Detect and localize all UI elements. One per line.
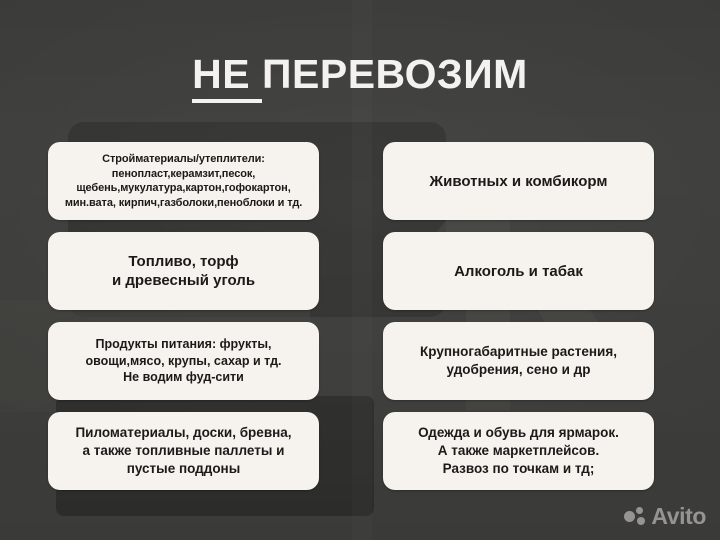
card-text: Одежда и обувь для ярмарок. А также марк… [418, 424, 619, 478]
card-text: Алкоголь и табак [454, 262, 583, 281]
card-fuel-peat-charcoal: Топливо, торф и древесный уголь [48, 232, 319, 310]
card-construction-materials: Стройматериалы/утеплители: пенопласт,кер… [48, 142, 319, 220]
avito-watermark: Avito [624, 505, 706, 528]
prohibited-items-grid: Стройматериалы/утеплители: пенопласт,кер… [48, 142, 654, 490]
card-text: Пиломатериалы, доски, бревна, а также то… [75, 424, 291, 478]
avito-dot-large [624, 511, 635, 522]
avito-dot-small-top [636, 507, 643, 514]
card-lumber-and-pallets: Пиломатериалы, доски, бревна, а также то… [48, 412, 319, 490]
card-text: Стройматериалы/утеплители: пенопласт,кер… [65, 152, 302, 210]
card-food-products: Продукты питания: фрукты, овощи,мясо, кр… [48, 322, 319, 400]
page-title-wrapper: НЕ ПЕРЕВОЗИМ [0, 52, 720, 96]
avito-dots-icon [624, 507, 646, 527]
page-title-rest: ПЕРЕВОЗИМ [262, 51, 528, 97]
poster-root: НЕ ПЕРЕВОЗИМ Стройматериалы/утеплители: … [0, 0, 720, 540]
card-text: Животных и комбикорм [430, 172, 608, 191]
avito-wordmark: Avito [651, 505, 706, 528]
card-text: Крупногабаритные растения, удобрения, се… [420, 343, 617, 379]
avito-dot-small-bottom [637, 517, 645, 525]
card-text: Топливо, торф и древесный уголь [112, 252, 255, 290]
page-title-underlined: НЕ [192, 51, 262, 103]
card-text: Продукты питания: фрукты, овощи,мясо, кр… [85, 336, 281, 386]
card-clothes-and-shoes: Одежда и обувь для ярмарок. А также марк… [383, 412, 654, 490]
card-alcohol-and-tobacco: Алкоголь и табак [383, 232, 654, 310]
card-oversized-plants: Крупногабаритные растения, удобрения, се… [383, 322, 654, 400]
card-animals-and-feed: Животных и комбикорм [383, 142, 654, 220]
page-title: НЕ ПЕРЕВОЗИМ [192, 52, 528, 96]
